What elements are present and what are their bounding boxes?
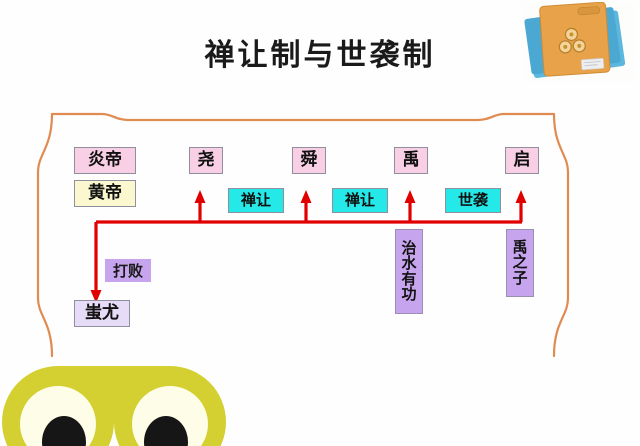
box-ruler-qi[interactable]: 启 <box>505 147 539 174</box>
box-ruler-shun[interactable]: 舜 <box>292 147 326 174</box>
box-label: 打败 <box>113 260 143 281</box>
box-label: 黄帝 <box>88 185 122 202</box>
box-label: 舜 <box>301 152 318 169</box>
box-label: 炎帝 <box>88 152 122 169</box>
box-reason-zhishui-yougong[interactable]: 治 水 有 功 <box>395 229 423 314</box>
box-ruler-yao[interactable]: 尧 <box>189 147 223 174</box>
notebook-photo-decoration <box>522 2 634 82</box>
cartoon-eyes-decoration <box>0 366 240 446</box>
slide-canvas: 禅让制与世袭制 <box>0 0 640 446</box>
box-label: 尧 <box>198 152 215 169</box>
reason-char: 子 <box>512 271 527 286</box>
box-transition-shixi[interactable]: 世袭 <box>445 188 501 213</box>
box-transition-shanrang-1[interactable]: 禅让 <box>228 188 284 213</box>
box-reason-yu-zhi-zi[interactable]: 禹 之 子 <box>506 229 534 297</box>
box-ruler-huangdi[interactable]: 黄帝 <box>74 180 136 207</box>
box-ruler-yandi[interactable]: 炎帝 <box>74 147 136 174</box>
box-label: 禅让 <box>241 193 271 208</box>
box-ruler-yu[interactable]: 禹 <box>394 147 428 174</box>
reason-char: 功 <box>401 287 416 302</box>
box-label: 蚩尤 <box>85 305 119 322</box>
label-defeat-action[interactable]: 打败 <box>105 259 151 282</box>
box-label: 世袭 <box>458 193 488 208</box>
box-label: 禅让 <box>345 193 375 208</box>
box-label: 启 <box>514 152 531 169</box>
box-defeated-chiyou[interactable]: 蚩尤 <box>74 300 130 327</box>
box-transition-shanrang-2[interactable]: 禅让 <box>332 188 388 213</box>
box-label: 禹 <box>403 152 420 169</box>
